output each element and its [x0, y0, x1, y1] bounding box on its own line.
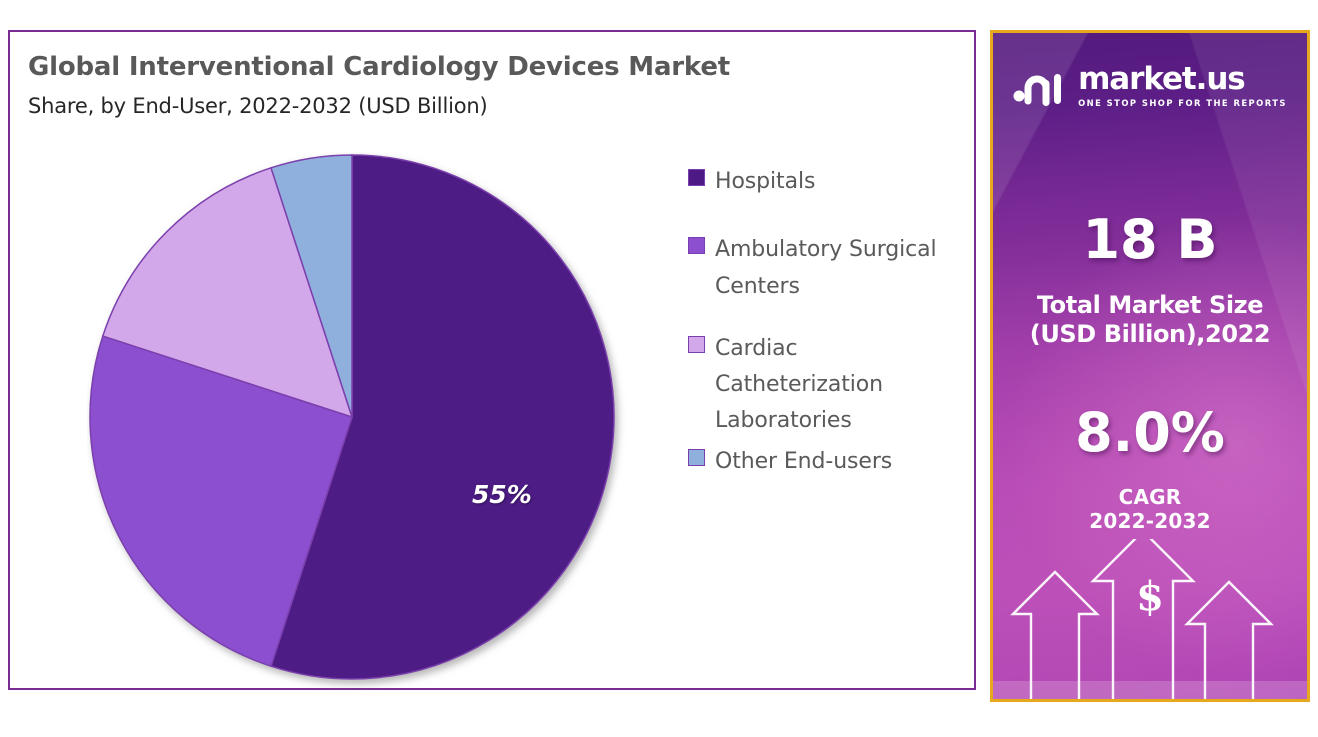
chart-subtitle: Share, by End-User, 2022-2032 (USD Billi… — [28, 94, 487, 118]
brand-logo[interactable]: market.us ONE STOP SHOP FOR THE REPORTS — [993, 65, 1307, 108]
growth-arrows-icon — [993, 539, 1310, 699]
market-size-caption: Total Market Size (USD Billion),2022 — [993, 291, 1307, 350]
pie-chart-svg — [87, 152, 627, 692]
cagr-value: 8.0% — [993, 401, 1307, 464]
legend-label-cardiac-catheterization-laboratories: Cardiac Catheterization Laboratories — [715, 331, 968, 440]
legend-label-other-end-users: Other End-users — [715, 444, 892, 480]
market-size-caption-line2: (USD Billion),2022 — [993, 320, 1307, 349]
chart-title: Global Interventional Cardiology Devices… — [28, 52, 730, 82]
legend-item-hospitals[interactable]: Hospitals — [688, 164, 968, 200]
legend-swatch-icon-ambulatory-surgical-centers — [688, 237, 705, 254]
market-size-value: 18 B — [993, 208, 1307, 271]
pie-slice-label-hospitals: 55% — [472, 480, 532, 509]
cagr-caption: CAGR 2022-2032 — [993, 485, 1307, 534]
legend-label-ambulatory-surgical-centers: Ambulatory Surgical Centers — [715, 232, 968, 305]
legend-item-ambulatory-surgical-centers[interactable]: Ambulatory Surgical Centers — [688, 232, 968, 305]
panel-floor-band — [993, 681, 1307, 699]
cagr-caption-line2: 2022-2032 — [993, 509, 1307, 533]
legend-item-other-end-users[interactable]: Other End-users — [688, 444, 968, 480]
brand-wordmark: market.us — [1078, 65, 1287, 94]
brand-logo-text: market.us ONE STOP SHOP FOR THE REPORTS — [1078, 65, 1287, 108]
stats-panel: market.us ONE STOP SHOP FOR THE REPORTS … — [990, 30, 1310, 702]
legend: Hospitals Ambulatory Surgical Centers Ca… — [688, 164, 968, 480]
brand-tagline: ONE STOP SHOP FOR THE REPORTS — [1078, 98, 1287, 108]
chart-panel: Global Interventional Cardiology Devices… — [8, 30, 976, 690]
legend-swatch-icon-cardiac-catheterization-laboratories — [688, 336, 705, 353]
cagr-caption-line1: CAGR — [993, 485, 1307, 509]
market-us-logo-icon — [1013, 66, 1069, 108]
legend-item-cardiac-catheterization-laboratories[interactable]: Cardiac Catheterization Laboratories — [688, 331, 968, 440]
legend-swatch-icon-other-end-users — [688, 449, 705, 466]
pie-slices — [90, 155, 614, 679]
market-size-caption-line1: Total Market Size — [993, 291, 1307, 320]
legend-label-hospitals: Hospitals — [715, 164, 815, 200]
legend-swatch-icon-hospitals — [688, 169, 705, 186]
pie-chart: 55% — [87, 152, 627, 692]
